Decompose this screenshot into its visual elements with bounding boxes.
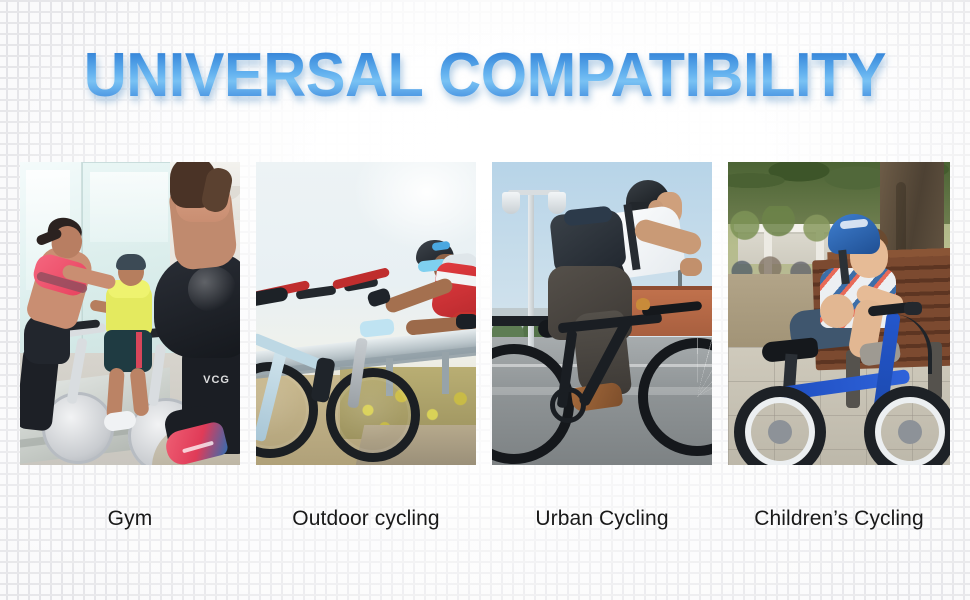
photo-gym: VCG: [20, 162, 240, 465]
photo-urban-cycling: [492, 162, 712, 465]
photo-gallery-row: VCG: [20, 162, 950, 465]
caption-childrens-cycling: Children’s Cycling: [728, 498, 950, 540]
photo-card-outdoor-cycling: [256, 162, 476, 465]
vcg-watermark: VCG: [203, 374, 230, 386]
caption-row: Gym Outdoor cycling Urban Cycling Childr…: [20, 498, 950, 540]
caption-outdoor-cycling: Outdoor cycling: [256, 498, 476, 540]
caption-gym: Gym: [20, 498, 240, 540]
photo-childrens-cycling: [728, 162, 950, 465]
page-title-container: UNIVERSAL COMPATIBILITY: [0, 44, 970, 108]
photo-card-childrens-cycling: [728, 162, 950, 465]
caption-urban-cycling: Urban Cycling: [492, 498, 712, 540]
page-title: UNIVERSAL COMPATIBILITY: [84, 44, 886, 108]
photo-card-gym: VCG: [20, 162, 240, 465]
photo-card-urban-cycling: [492, 162, 712, 465]
universal-compatibility-banner: UNIVERSAL COMPATIBILITY: [0, 0, 970, 600]
photo-outdoor-cycling: [256, 162, 476, 465]
